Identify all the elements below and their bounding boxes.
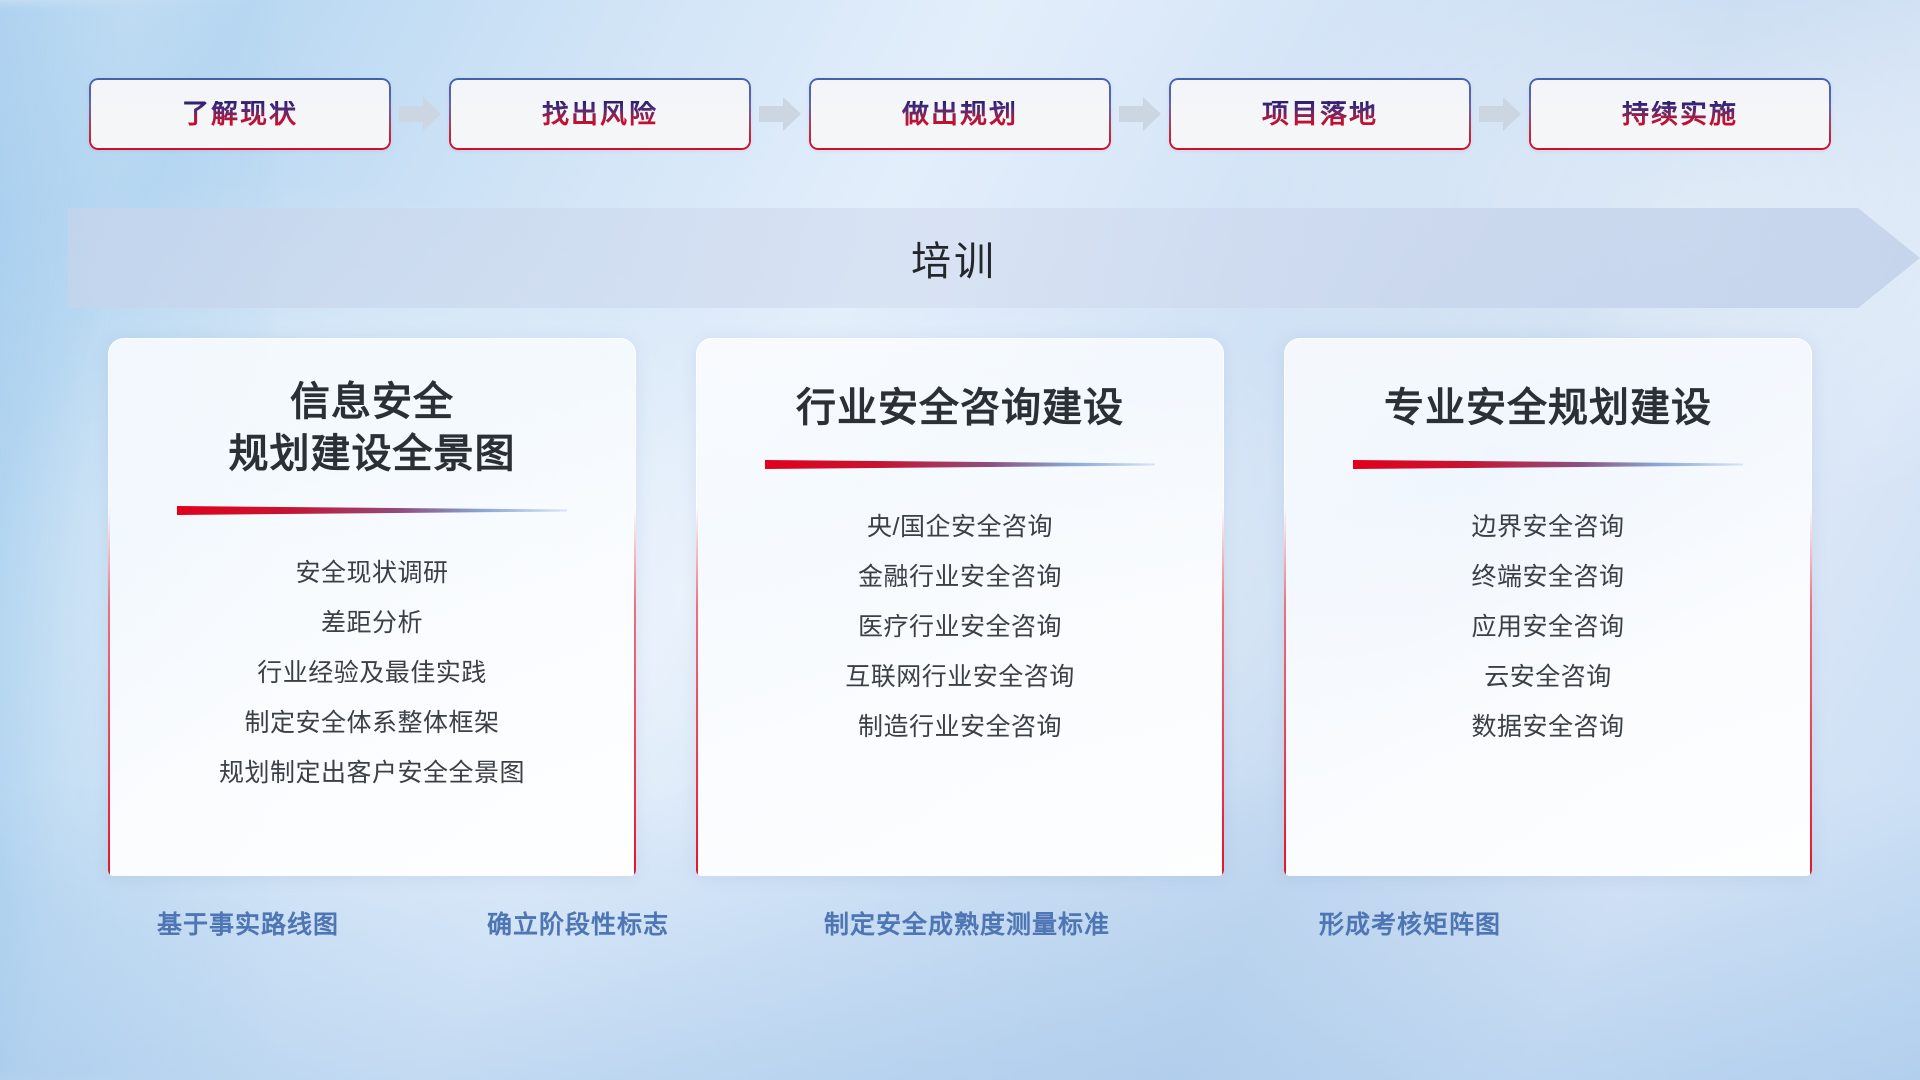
step-arrow-icon-4 [1471, 94, 1529, 134]
step-label-3: 做出规划 [902, 101, 1018, 128]
list-item: 行业经验及最佳实践 [257, 648, 487, 698]
caption-row: 基于事实路线图 确立阶段性标志 制定安全成熟度测量标准 形成考核矩阵图 [0, 905, 1920, 949]
list-item: 终端安全咨询 [1471, 552, 1624, 602]
list-item: 安全现状调研 [295, 548, 448, 598]
list-item: 规划制定出客户安全全景图 [219, 748, 525, 798]
card-title: 行业安全咨询建设 [796, 382, 1124, 434]
step-arrow-icon-1 [391, 94, 449, 134]
list-item: 差距分析 [321, 598, 423, 648]
card-title: 专业安全规划建设 [1384, 382, 1712, 434]
list-item: 央/国企安全咨询 [867, 502, 1053, 552]
step-box-2[interactable]: 找出风险 [449, 78, 751, 150]
step-box-3[interactable]: 做出规划 [809, 78, 1111, 150]
card-item-list: 边界安全咨询 终端安全咨询 应用安全咨询 云安全咨询 数据安全咨询 [1471, 502, 1624, 752]
step-arrow-icon-3 [1111, 94, 1169, 134]
tapered-gradient-divider-icon [177, 502, 567, 518]
step-box-4[interactable]: 项目落地 [1169, 78, 1471, 150]
card-row: 信息安全 规划建设全景图 [0, 338, 1920, 876]
card-item-list: 安全现状调研 差距分析 行业经验及最佳实践 制定安全体系整体框架 规划制定出客户… [219, 548, 525, 798]
card-item-list: 央/国企安全咨询 金融行业安全咨询 医疗行业安全咨询 互联网行业安全咨询 制造行… [845, 502, 1075, 752]
step-arrow-icon-2 [751, 94, 809, 134]
card-industry-security-consulting[interactable]: 行业安全咨询建设 [696, 338, 1224, 876]
list-item: 云安全咨询 [1484, 652, 1612, 702]
list-item: 互联网行业安全咨询 [845, 652, 1075, 702]
caption-label: 确立阶段性标志 [487, 905, 669, 941]
list-item: 数据安全咨询 [1471, 702, 1624, 752]
caption-label: 形成考核矩阵图 [1319, 905, 1501, 941]
card-information-security-blueprint[interactable]: 信息安全 规划建设全景图 [108, 338, 636, 876]
list-item: 制定安全体系整体框架 [244, 698, 499, 748]
caption-label: 基于事实路线图 [157, 905, 339, 941]
step-label-2: 找出风险 [542, 101, 658, 128]
list-item: 医疗行业安全咨询 [858, 602, 1062, 652]
list-item: 金融行业安全咨询 [858, 552, 1062, 602]
list-item: 应用安全咨询 [1471, 602, 1624, 652]
list-item: 制造行业安全咨询 [858, 702, 1062, 752]
step-label-5: 持续实施 [1622, 101, 1738, 128]
card-professional-security-planning[interactable]: 专业安全规划建设 [1284, 338, 1812, 876]
tapered-gradient-divider-icon [765, 456, 1155, 472]
training-banner: 培训 [68, 208, 1920, 308]
process-step-row: 了解现状 找出风险 做出规划 项目落地 [0, 78, 1920, 150]
card-title: 信息安全 规划建设全景图 [229, 376, 516, 480]
caption-label: 制定安全成熟度测量标准 [824, 905, 1110, 941]
step-box-1[interactable]: 了解现状 [89, 78, 391, 150]
step-label-4: 项目落地 [1262, 101, 1378, 128]
slide-canvas: 了解现状 找出风险 做出规划 项目落地 [0, 0, 1920, 1080]
step-label-1: 了解现状 [182, 101, 298, 128]
step-box-5[interactable]: 持续实施 [1529, 78, 1831, 150]
training-banner-title: 培训 [911, 229, 997, 287]
list-item: 边界安全咨询 [1471, 502, 1624, 552]
tapered-gradient-divider-icon [1353, 456, 1743, 472]
